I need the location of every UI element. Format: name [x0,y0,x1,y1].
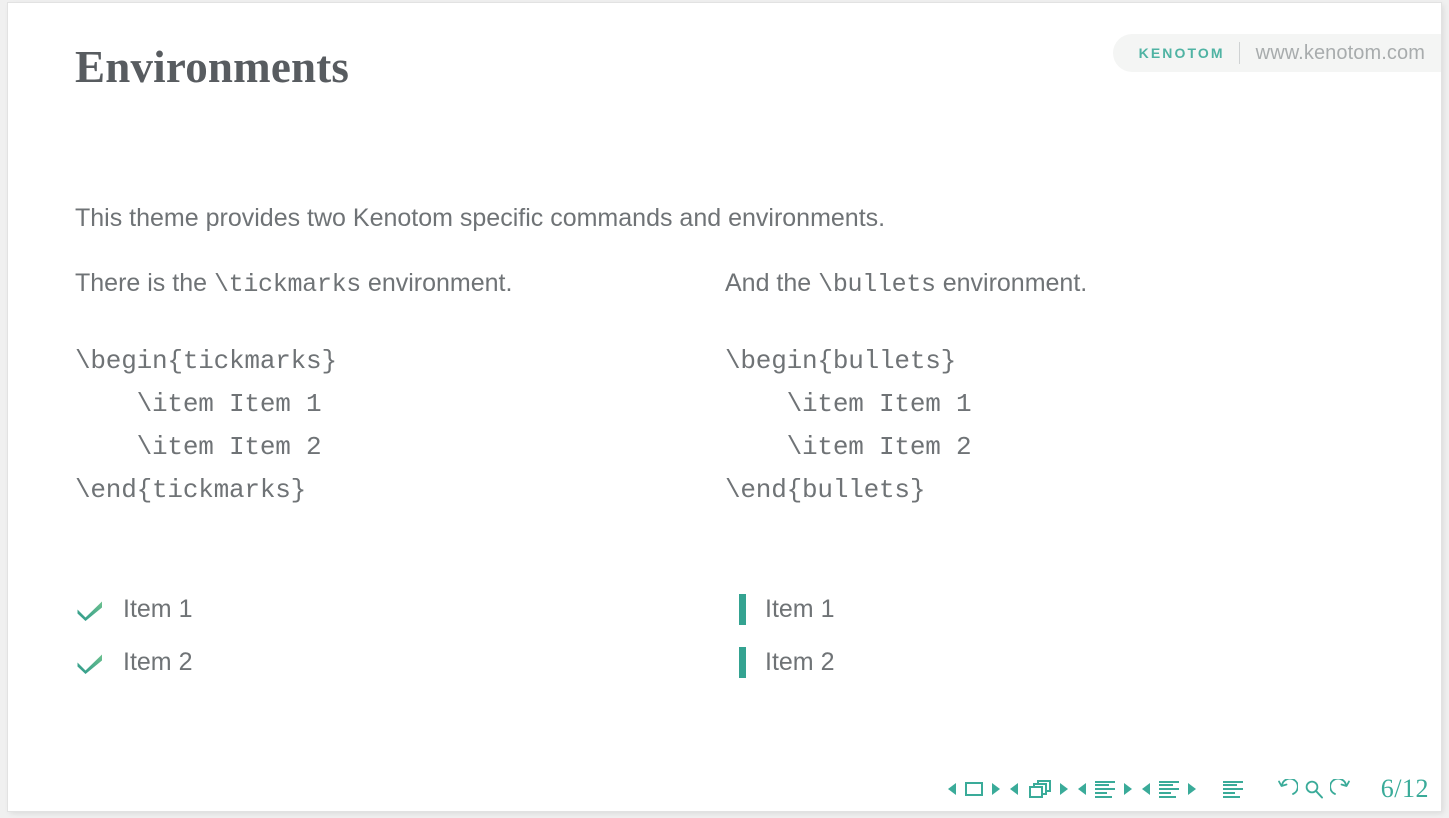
checkmark-icon [75,651,105,675]
list-item-label: Item 2 [123,648,192,677]
intro-paragraph: This theme provides two Kenotom specific… [75,203,885,234]
right-heading-prefix: And the [725,269,818,297]
forward-icon[interactable] [1330,779,1352,799]
list-item: Item 2 [739,636,834,689]
vertical-bar-icon [739,594,746,625]
slide-root: Environments KENOTOM www.kenotom.com Thi… [0,0,1449,818]
list-item: Item 1 [739,583,834,636]
slide-canvas: Environments KENOTOM www.kenotom.com Thi… [8,3,1441,811]
presentation-icon[interactable] [1223,781,1243,798]
left-column-heading: There is the \tickmarks environment. [75,268,512,300]
tickmarks-code-block: \begin{tickmarks} \item Item 1 \item Ite… [75,340,337,512]
page-title: Environments [75,43,349,93]
list-item-label: Item 1 [765,595,834,624]
subsection-navigation-group[interactable] [1073,781,1137,798]
checkmark-icon [75,598,105,622]
brand-name: KENOTOM [1139,45,1225,61]
section-icon[interactable] [1159,781,1179,798]
next-subsection-arrow-icon[interactable] [1124,783,1132,795]
left-heading-suffix: environment. [361,269,512,297]
right-heading-suffix: environment. [936,269,1087,297]
prev-slide-arrow-icon[interactable] [948,783,956,795]
right-column-heading: And the \bullets environment. [725,268,1087,300]
tickmarks-output-list: Item 1 Item 2 [75,583,192,689]
next-slide-arrow-icon[interactable] [992,783,1000,795]
next-section-arrow-icon[interactable] [1188,783,1196,795]
list-item: Item 1 [75,583,192,636]
next-frame-arrow-icon[interactable] [1060,783,1068,795]
brand-url: www.kenotom.com [1256,42,1425,65]
slide-navigation-group[interactable] [943,782,1005,796]
bullets-code-block: \begin{bullets} \item Item 1 \item Item … [725,340,971,512]
left-heading-prefix: There is the [75,269,214,297]
subsection-icon[interactable] [1095,781,1115,798]
section-navigation-group[interactable] [1137,781,1201,798]
prev-frame-arrow-icon[interactable] [1010,783,1018,795]
slide-icon[interactable] [965,782,983,796]
frame-navigation-group[interactable] [1005,780,1073,798]
page-number[interactable]: 6/12 [1381,774,1429,804]
back-icon[interactable] [1276,779,1298,799]
search-icon[interactable] [1304,779,1324,799]
bullets-output-list: Item 1 Item 2 [739,583,834,689]
frames-icon[interactable] [1027,780,1051,798]
list-item-label: Item 2 [765,648,834,677]
brand-badge: KENOTOM www.kenotom.com [1113,34,1441,72]
right-heading-command: \bullets [818,270,936,299]
left-heading-command: \tickmarks [214,270,361,299]
beamer-navigation-bar[interactable]: 6/12 [943,775,1429,803]
prev-section-arrow-icon[interactable] [1142,783,1150,795]
list-item-label: Item 1 [123,595,192,624]
prev-subsection-arrow-icon[interactable] [1078,783,1086,795]
list-item: Item 2 [75,636,192,689]
brand-divider [1239,42,1240,64]
vertical-bar-icon [739,647,746,678]
